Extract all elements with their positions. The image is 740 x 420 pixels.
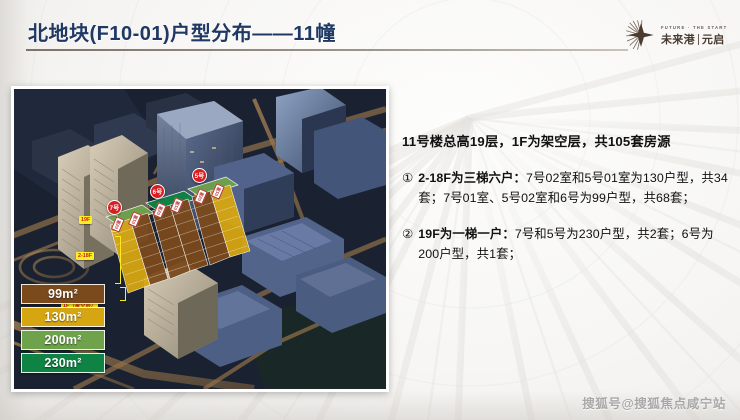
bullet-marker-2: ② (402, 224, 413, 244)
floor-tag-19f: 19F (79, 216, 92, 224)
floor-bracket-1f (120, 287, 126, 301)
bullet-marker-1: ① (402, 168, 413, 188)
summary-headline: 11号楼总高19层，1F为架空层，共105套房源 (402, 132, 732, 152)
building-badge-7: 7号 (107, 200, 122, 215)
legend-item-200: 200m² (21, 330, 105, 350)
brand-name-divider (698, 34, 699, 45)
slide-canvas: 北地块(F10-01)户型分布——11幢 (0, 0, 740, 420)
area-legend: 99m² 130m² 200m² 230m² (21, 284, 105, 373)
page-title: 北地块(F10-01)户型分布——11幢 (28, 17, 336, 46)
brand-name-right: 元启 (702, 31, 725, 47)
aerial-render-image: 19F 2-18F 1F（架空层） 7号 6号 5号 02室 01室 02室 0… (11, 86, 389, 392)
bullet-bold-1: 2-18F为三梯六户： (418, 171, 526, 185)
bullet-bold-2: 19F为一梯一户： (418, 227, 515, 241)
floor-bracket-2-18f (115, 236, 121, 284)
building-badge-5: 5号 (192, 168, 207, 183)
legend-item-130: 130m² (21, 307, 105, 327)
bullet-text-2: 19F为一梯一户：7号和5号为230户型，共2套；6号为200户型，共1套； (418, 224, 732, 264)
brand-name-left: 未来港 (661, 31, 695, 47)
starburst-icon (624, 18, 658, 52)
brand-logo: FUTURE · THE START 未来港 元启 (624, 15, 728, 55)
legend-item-230: 230m² (21, 353, 105, 373)
slide-header: 北地块(F10-01)户型分布——11幢 (0, 0, 740, 62)
legend-item-99: 99m² (21, 284, 105, 304)
brand-english-tagline: FUTURE · THE START (661, 25, 727, 30)
watermark: 搜狐号@搜狐焦点咸宁站 (582, 393, 726, 412)
building-badge-6: 6号 (150, 184, 165, 199)
bullet-text-1: 2-18F为三梯六户：7号02室和5号01室为130户型，共34套；7号01室、… (418, 168, 732, 208)
unit-distribution-description: 11号楼总高19层，1F为架空层，共105套房源 ① 2-18F为三梯六户：7号… (402, 132, 732, 264)
list-item: ① 2-18F为三梯六户：7号02室和5号01室为130户型，共34套；7号01… (402, 168, 732, 208)
floor-tag-2-18f: 2-18F (76, 252, 94, 260)
title-divider (26, 49, 628, 51)
list-item: ② 19F为一梯一户：7号和5号为230户型，共2套；6号为200户型，共1套； (402, 224, 732, 264)
